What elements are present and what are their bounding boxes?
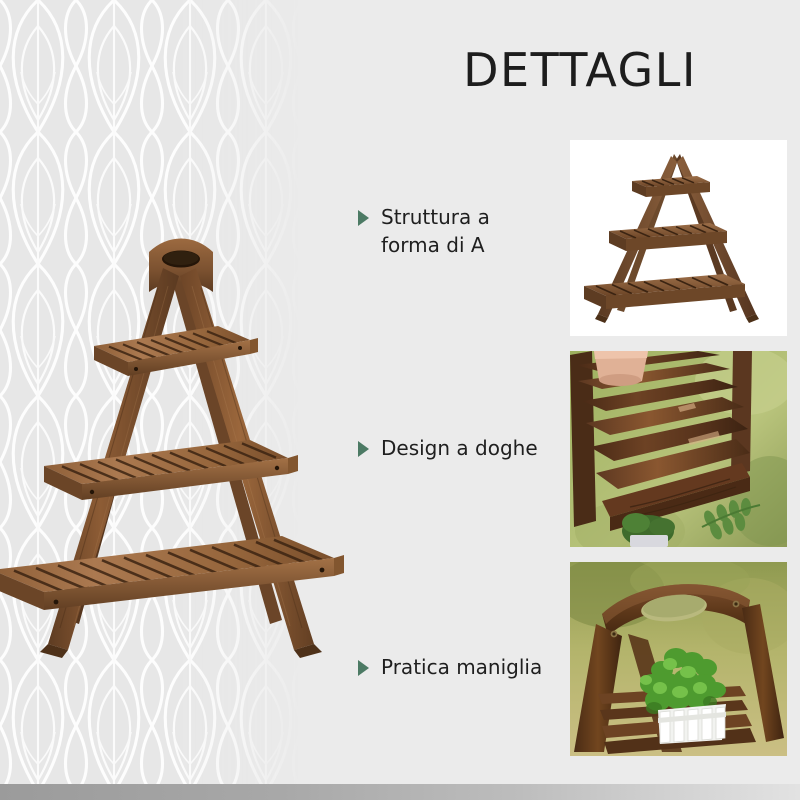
thumbnail-handle (570, 562, 787, 756)
feature-item-handle: Pratica maniglia (358, 653, 568, 681)
triangle-right-icon (358, 441, 369, 457)
triangle-right-icon (358, 210, 369, 226)
feature-label: Struttura a forma di A (381, 203, 490, 260)
feature-label: Design a doghe (381, 434, 538, 462)
bottom-strip (0, 784, 800, 800)
page-title: DETTAGLI (380, 46, 780, 94)
thumbnail-slat-design (570, 351, 787, 547)
product-detail-page: DETTAGLI Struttura a forma di A Design a… (0, 0, 800, 800)
thumbnail-a-frame (570, 140, 787, 336)
triangle-right-icon (358, 660, 369, 676)
feature-item-a-frame: Struttura a forma di A (358, 203, 568, 260)
hero-product-image (0, 228, 362, 658)
feature-item-slat-design: Design a doghe (358, 434, 568, 462)
feature-label: Pratica maniglia (381, 653, 542, 681)
